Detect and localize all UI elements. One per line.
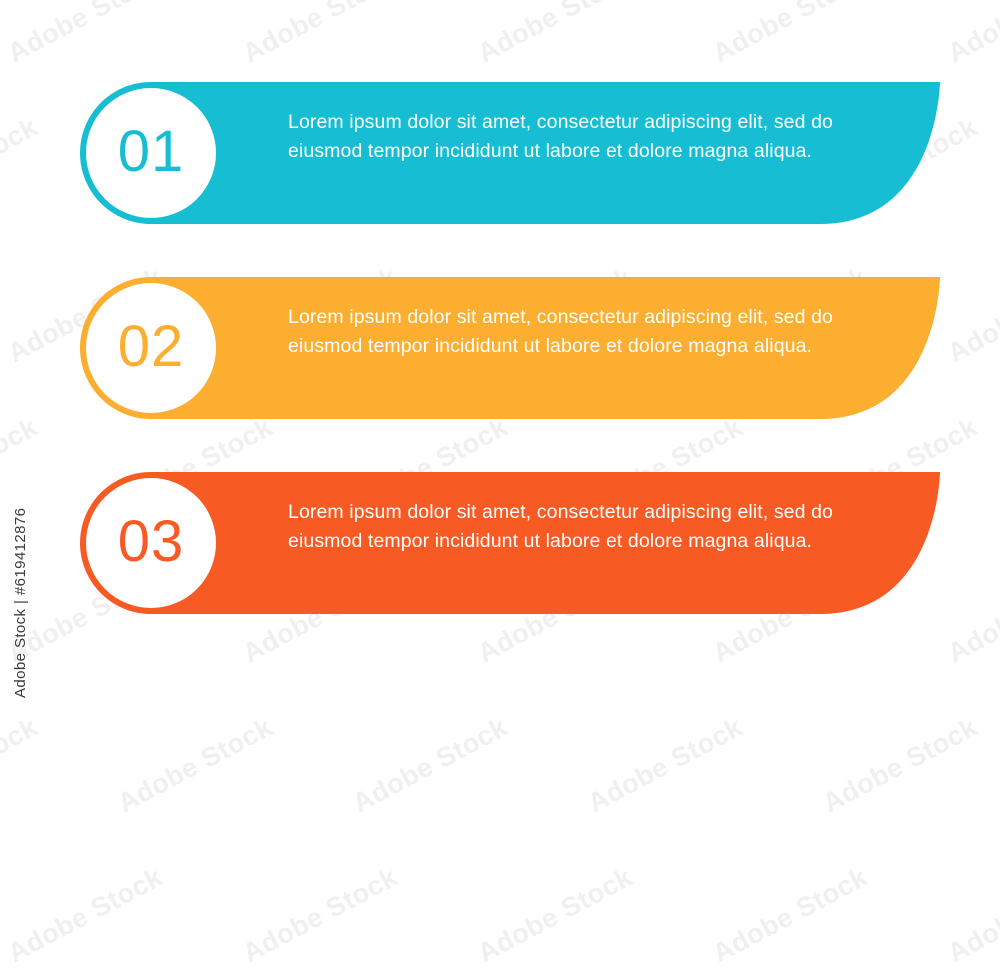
watermark-text: Adobe Stock [0,712,43,819]
step-description-02: Lorem ipsum dolor sit amet, consectetur … [288,303,888,361]
watermark-text: Adobe Stock [943,862,1000,969]
ribbon-row-03[interactable]: 03 Lorem ipsum dolor sit amet, consectet… [80,472,940,614]
watermark-text: Adobe Stock [238,862,403,969]
step-description-03: Lorem ipsum dolor sit amet, consectetur … [288,498,888,556]
watermark-text: Adobe Stock [818,712,983,819]
step-number-01: 01 [118,123,185,181]
step-badge-02[interactable]: 02 [82,279,220,417]
step-badge-01[interactable]: 01 [82,84,220,222]
watermark-text: Adobe Stock [348,712,513,819]
step-description-01: Lorem ipsum dolor sit amet, consectetur … [288,108,888,166]
ribbon-list: 01 Lorem ipsum dolor sit amet, consectet… [0,0,1000,700]
ribbon-row-01[interactable]: 01 Lorem ipsum dolor sit amet, consectet… [80,82,940,224]
watermark-text: Adobe Stock [113,712,278,819]
watermark-text: Adobe Stock [583,712,748,819]
ribbon-row-02[interactable]: 02 Lorem ipsum dolor sit amet, consectet… [80,277,940,419]
step-badge-03[interactable]: 03 [82,474,220,612]
watermark-text: Adobe Stock [708,862,873,969]
step-number-02: 02 [118,318,185,376]
watermark-text: Adobe Stock [473,862,638,969]
step-number-03: 03 [118,513,185,571]
stock-credit-label: Adobe Stock | #619412876 [12,508,29,698]
watermark-text: Adobe Stock [3,862,168,969]
stock-credit: Adobe Stock | #619412876 [6,0,34,700]
infographic-canvas: Adobe StockAdobe StockAdobe StockAdobe S… [0,0,1000,700]
